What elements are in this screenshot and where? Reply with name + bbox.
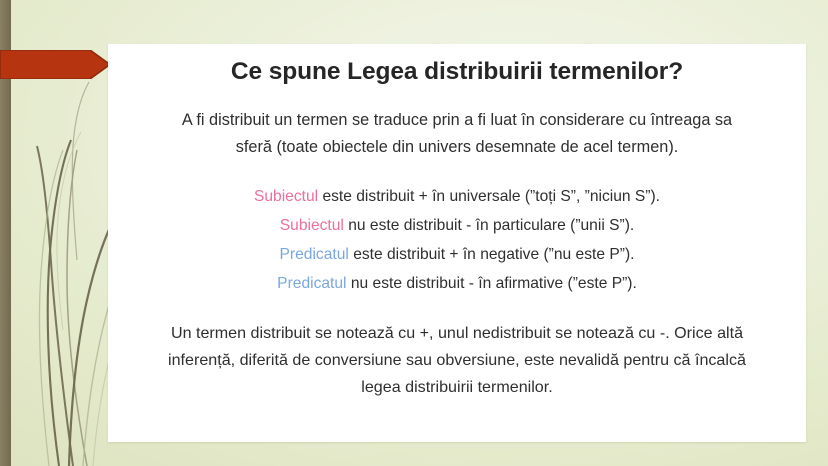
- keyword-subject: Subiectul: [254, 188, 318, 205]
- claim-text: nu este distribuit - în afirmative (”est…: [347, 275, 637, 292]
- red-arrow-banner: [0, 50, 110, 79]
- keyword-predicate: Predicatul: [277, 275, 346, 292]
- claim-text: este distribuit + în negative (”nu este …: [349, 246, 635, 263]
- claim-line: Predicatul nu este distribuit - în afirm…: [130, 269, 784, 298]
- intro-paragraph: A fi distribuit un termen se traduce pri…: [172, 107, 742, 161]
- claims-list: Subiectul este distribuit + în universal…: [130, 182, 784, 298]
- claim-text: este distribuit + în universale (”toți S…: [318, 188, 660, 205]
- page-title: Ce spune Legea distribuirii termenilor?: [108, 44, 806, 88]
- claim-text: nu este distribuit - în particulare (”un…: [344, 217, 634, 234]
- keyword-subject: Subiectul: [280, 217, 344, 234]
- outro-paragraph: Un termen distribuit se notează cu +, un…: [156, 320, 758, 401]
- claim-line: Subiectul nu este distribuit - în partic…: [130, 211, 784, 240]
- slide-body: A fi distribuit un termen se traduce pri…: [108, 107, 806, 401]
- claim-line: Predicatul este distribuit + în negative…: [130, 240, 784, 269]
- keyword-predicate: Predicatul: [280, 246, 349, 263]
- claim-line: Subiectul este distribuit + în universal…: [130, 182, 784, 211]
- slide-canvas: Ce spune Legea distribuirii termenilor? …: [0, 0, 828, 466]
- content-card: Ce spune Legea distribuirii termenilor? …: [108, 44, 806, 442]
